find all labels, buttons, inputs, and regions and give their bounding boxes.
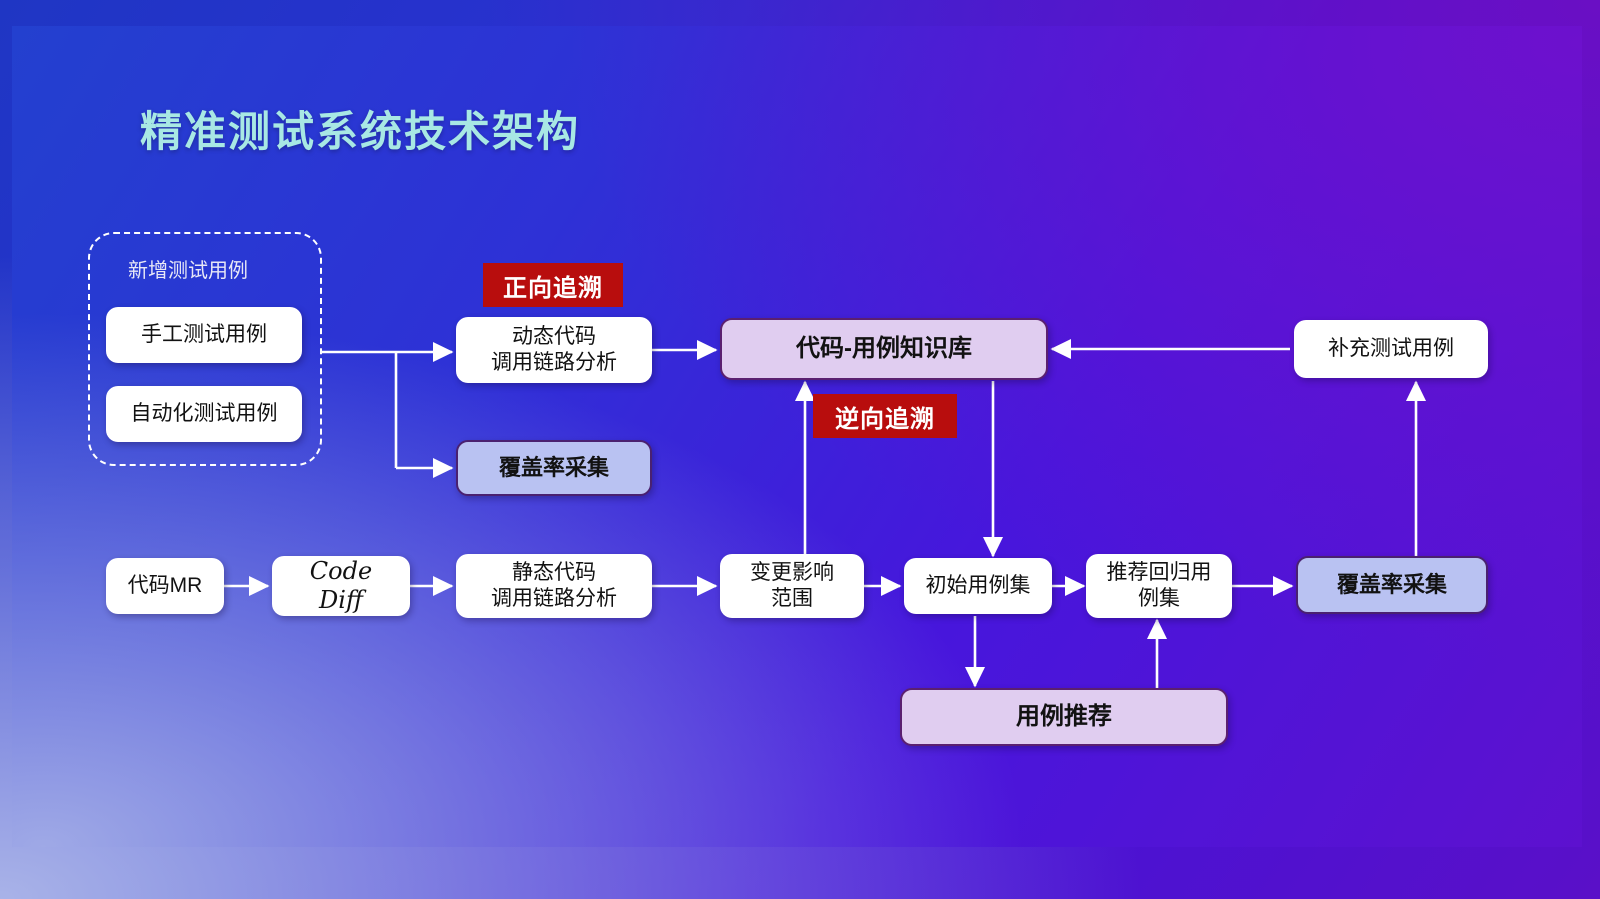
node-manual-test-cases[interactable]: 手工测试用例 [106,307,302,363]
node-initial-case-set[interactable]: 初始用例集 [904,558,1052,614]
node-recommended-regression-case-set[interactable]: 推荐回归用 例集 [1086,554,1232,618]
node-code-case-knowledge-base[interactable]: 代码-用例知识库 [720,318,1048,380]
page-title: 精准测试系统技术架构 [140,98,580,159]
node-dynamic-code-call-chain-analysis[interactable]: 动态代码 调用链路分析 [456,317,652,383]
new-test-cases-group-label: 新增测试用例 [128,254,248,283]
node-coverage-collection-right[interactable]: 覆盖率采集 [1296,556,1488,614]
node-case-recommendation[interactable]: 用例推荐 [900,688,1228,746]
node-code-diff[interactable]: Code Diff [272,556,410,616]
tag-reverse-trace: 逆向追溯 [813,394,957,438]
node-change-impact-scope[interactable]: 变更影响 范围 [720,554,864,618]
node-coverage-collection-top[interactable]: 覆盖率采集 [456,440,652,496]
node-static-code-call-chain-analysis[interactable]: 静态代码 调用链路分析 [456,554,652,618]
slide-canvas: 精准测试系统技术架构 新增测试用例 手工测试用例 自动化测试用例 正向追溯 逆向… [0,0,1600,899]
node-code-mr[interactable]: 代码MR [106,558,224,614]
node-automated-test-cases[interactable]: 自动化测试用例 [106,386,302,442]
tag-forward-trace: 正向追溯 [483,263,623,307]
node-supplementary-test-cases[interactable]: 补充测试用例 [1294,320,1488,378]
